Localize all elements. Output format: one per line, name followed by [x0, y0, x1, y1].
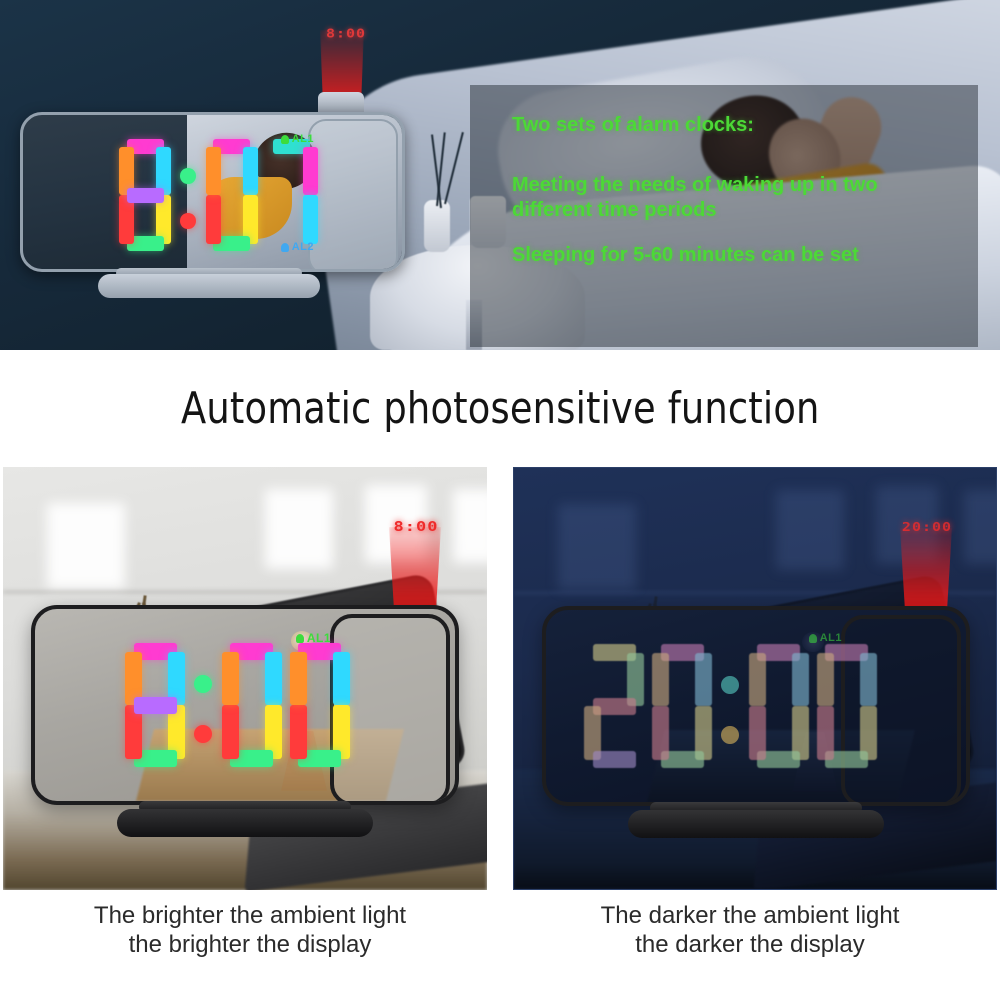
led-segment — [695, 653, 712, 707]
clock-shell: AL1 AL2 — [20, 112, 405, 272]
alarm-clock-bright: AL1 — [31, 605, 459, 805]
caption-line-2: the darker the display — [500, 930, 1000, 959]
led-segment — [652, 653, 669, 707]
projection-beam — [900, 528, 952, 614]
light-square — [453, 489, 487, 563]
led-colon — [721, 644, 740, 768]
alarm2-indicator: AL2 — [281, 241, 314, 253]
alarm1-indicator: AL1 — [809, 632, 842, 644]
led-segment — [290, 652, 307, 706]
caption-line-2: the brighter the display — [0, 930, 500, 959]
led-digit — [222, 643, 282, 767]
led-segment — [127, 188, 164, 203]
alarm2-label: AL2 — [292, 241, 314, 253]
alarm-clock-night: AL1 AL2 — [20, 112, 405, 272]
bell-icon — [809, 634, 817, 643]
clock-side-panel — [308, 119, 398, 272]
led-digit — [206, 139, 258, 251]
led-digit — [266, 139, 318, 251]
led-colon-dot — [180, 213, 196, 229]
led-digit — [817, 644, 877, 768]
reed-diffuser — [424, 200, 450, 252]
led-segment — [290, 705, 307, 759]
alarm1-indicator: AL1 — [281, 133, 314, 145]
feature-text-overlay: Two sets of alarm clocks: Meeting the ne… — [470, 85, 978, 347]
clock-shell: AL1 — [542, 606, 970, 806]
alarm-clock-dark: AL1 — [542, 606, 970, 806]
banner-night-scene: 8:00 AL1 AL2 — [0, 0, 1000, 350]
alarm1-label: AL1 — [292, 133, 314, 145]
bell-icon — [281, 243, 289, 252]
projection-beam — [389, 527, 441, 613]
caption-line-1: The brighter the ambient light — [0, 901, 500, 930]
led-segment — [303, 147, 318, 196]
clock-stand-base — [98, 274, 320, 298]
feature-line-2: Meeting the needs of waking up in two di… — [512, 173, 942, 223]
led-digit — [584, 644, 644, 768]
caption-bright: The brighter the ambient light the brigh… — [0, 901, 500, 959]
page-title: Automatic photosensitive function — [181, 383, 820, 434]
clock-display-time — [115, 133, 322, 257]
led-segment — [817, 706, 834, 760]
led-digit — [652, 644, 712, 768]
feature-line-1: Two sets of alarm clocks: — [512, 113, 754, 138]
panel-bright: 8:00 AL1 — [3, 467, 487, 890]
caption-line-1: The darker the ambient light — [500, 901, 1000, 930]
clock-display-time — [121, 637, 354, 773]
panel-captions: The brighter the ambient light the brigh… — [0, 895, 1000, 1000]
led-colon — [180, 139, 197, 251]
led-colon-dot — [721, 676, 739, 694]
led-digit — [119, 139, 171, 251]
light-square — [964, 490, 997, 564]
alarm1-label: AL1 — [820, 632, 842, 644]
section-headline: Automatic photosensitive function — [0, 352, 1000, 465]
clock-stand-base — [628, 810, 884, 838]
led-segment — [860, 653, 877, 707]
led-colon-dot — [194, 725, 212, 743]
alarm1-indicator: AL1 — [296, 631, 331, 645]
led-colon-dot — [721, 726, 739, 744]
light-square — [47, 503, 125, 589]
led-digit — [125, 643, 185, 767]
clock-stand-base — [117, 809, 373, 837]
clock-display-time — [580, 638, 881, 774]
projection-time-text: 20:00 — [888, 520, 966, 534]
led-segment — [749, 653, 766, 707]
panel-dark: 20:00 AL1 — [513, 467, 997, 890]
led-segment — [303, 195, 318, 244]
led-digit — [290, 643, 350, 767]
led-segment — [817, 653, 834, 707]
led-segment — [222, 705, 239, 759]
led-segment — [593, 751, 636, 768]
bell-icon — [296, 634, 304, 643]
projection-time-text: 8:00 — [322, 25, 370, 40]
led-segment — [652, 706, 669, 760]
led-colon-dot — [180, 168, 196, 184]
light-square — [265, 489, 333, 569]
led-segment — [333, 652, 350, 706]
comparison-panels: 8:00 AL1 — [0, 467, 1000, 890]
led-segment — [792, 653, 809, 707]
led-segment — [265, 652, 282, 706]
led-colon-dot — [194, 675, 212, 693]
caption-dark: The darker the ambient light the darker … — [500, 901, 1000, 959]
led-digit — [749, 644, 809, 768]
led-segment — [206, 147, 221, 196]
led-segment — [749, 706, 766, 760]
light-square — [558, 504, 636, 590]
product-infographic: 8:00 AL1 AL2 — [0, 0, 1000, 1000]
led-colon — [194, 643, 213, 767]
led-segment — [222, 652, 239, 706]
led-segment — [243, 147, 258, 196]
led-segment — [134, 697, 177, 714]
alarm1-label: AL1 — [307, 631, 331, 645]
clock-shell: AL1 — [31, 605, 459, 805]
bell-icon — [281, 135, 289, 144]
feature-line-3: Sleeping for 5-60 minutes can be set — [512, 243, 859, 268]
light-square — [776, 490, 844, 570]
projection-time-text: 8:00 — [383, 519, 449, 535]
led-segment — [206, 195, 221, 244]
